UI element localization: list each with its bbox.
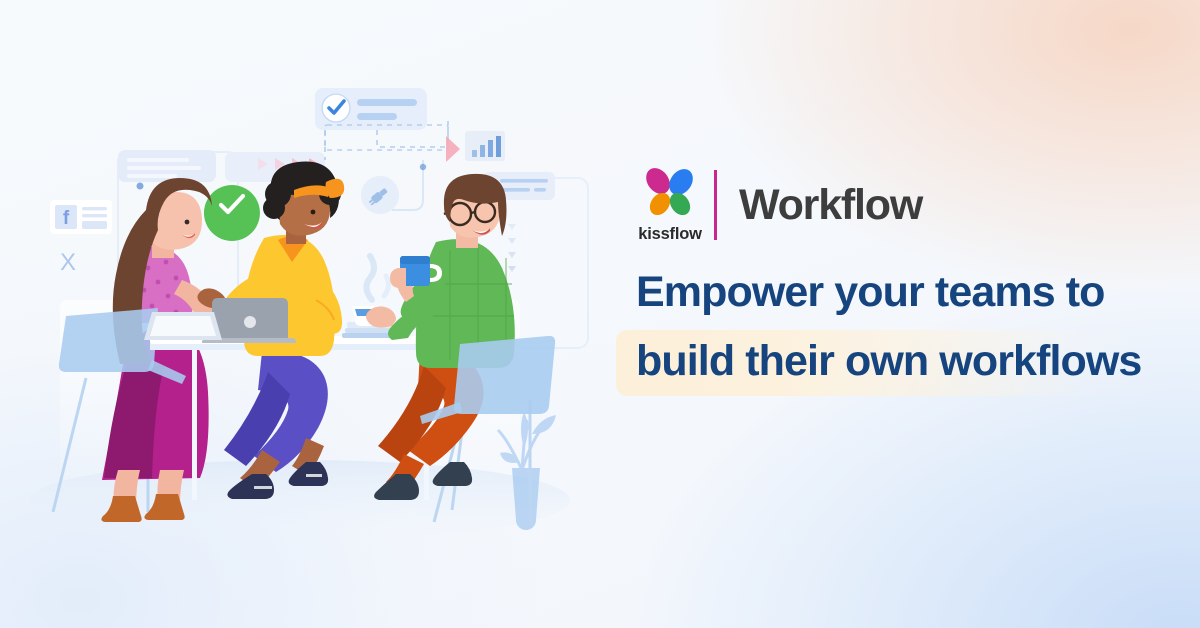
product-name: Workflow: [739, 184, 922, 227]
plug-connector-badge: [361, 176, 399, 214]
headline-line-2: build their own workflows: [620, 327, 1190, 395]
headline-line-1-text: Empower your teams to: [636, 268, 1105, 316]
flow-start-dot: [137, 183, 144, 190]
kissflow-workflow-banner: f X: [0, 0, 1200, 628]
pink-play-arrow: [446, 136, 460, 162]
team-collaboration-illustration: f X: [0, 0, 610, 628]
facebook-f-icon: f: [63, 208, 70, 229]
laptop-left: [144, 312, 222, 340]
headline-line-2-text: build their own workflows: [636, 337, 1141, 385]
kissflow-logo: kissflow: [630, 166, 710, 244]
headline: Empower your teams to build their own wo…: [620, 258, 1190, 395]
petal-bottom-left: [646, 189, 675, 219]
steam: [366, 256, 374, 300]
petal-bottom-right: [666, 189, 695, 219]
chevron-down-run: [508, 224, 516, 272]
hand-mug: [390, 268, 406, 288]
eye: [185, 220, 190, 225]
x-letter-mark: X: [60, 249, 76, 276]
facebook-post-card: f: [50, 200, 112, 234]
chair-left-back: [59, 308, 158, 372]
banner-content: kissflow Workflow Empower your teams to …: [620, 0, 1200, 628]
kissflow-wordmark: kissflow: [630, 225, 710, 244]
brand-divider: [714, 170, 717, 240]
approved-badge: [204, 185, 260, 241]
brand-lockup: kissflow Workflow: [630, 166, 922, 244]
steam-2: [384, 276, 389, 296]
headline-line-1: Empower your teams to: [620, 258, 1190, 326]
headband-bow: [326, 179, 345, 198]
kissflow-pinwheel-icon: [641, 166, 699, 222]
checkmark-task-card: [315, 88, 427, 130]
connector-dot: [420, 164, 426, 170]
bar-chart-card: [465, 131, 505, 161]
chair-right-back: [454, 336, 555, 414]
message-card: [118, 150, 216, 182]
eye: [311, 210, 316, 215]
